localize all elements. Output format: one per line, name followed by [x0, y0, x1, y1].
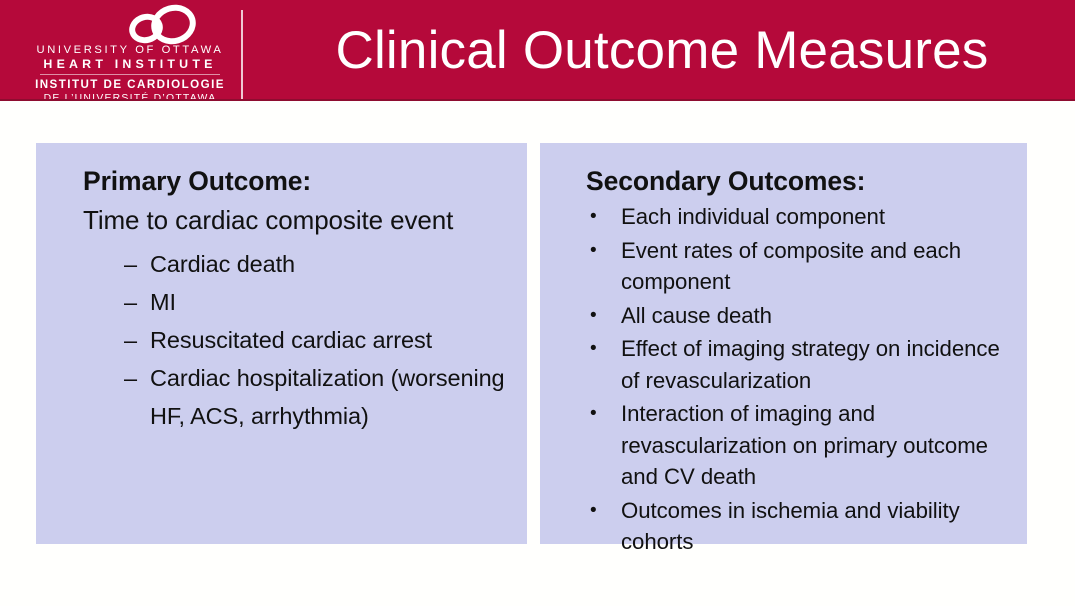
- list-item-label: All cause death: [621, 303, 772, 328]
- list-item-label: Event rates of composite and each compon…: [621, 238, 961, 295]
- list-item: • Interaction of imaging and revasculari…: [586, 398, 1013, 493]
- dash-bullet-icon: –: [124, 283, 137, 321]
- logo-line-heart-institute: HEART INSTITUTE: [20, 57, 240, 71]
- list-item-label: Interaction of imaging and revasculariza…: [621, 401, 988, 489]
- round-bullet-icon: •: [590, 235, 597, 267]
- dash-bullet-icon: –: [124, 321, 137, 359]
- logo-divider-rule: [40, 74, 220, 75]
- institution-logo: UNIVERSITY OF OTTAWA HEART INSTITUTE INS…: [20, 0, 240, 101]
- secondary-outcomes-list: • Each individual component • Event rate…: [586, 201, 1013, 558]
- list-item: • Event rates of composite and each comp…: [586, 235, 1013, 298]
- header-vertical-divider: [241, 10, 243, 100]
- list-item: – Cardiac death: [124, 245, 509, 283]
- primary-outcome-heading: Primary Outcome:: [83, 165, 509, 197]
- primary-outcome-panel: Primary Outcome: Time to cardiac composi…: [36, 143, 527, 544]
- slide: UNIVERSITY OF OTTAWA HEART INSTITUTE INS…: [0, 0, 1075, 606]
- list-item: • Effect of imaging strategy on incidenc…: [586, 333, 1013, 396]
- list-item-label: Cardiac death: [150, 251, 295, 277]
- list-item: – Resuscitated cardiac arrest: [124, 321, 509, 359]
- dash-bullet-icon: –: [124, 359, 137, 397]
- logo-line-institut: INSTITUT DE CARDIOLOGIE: [20, 78, 240, 92]
- dash-bullet-icon: –: [124, 245, 137, 283]
- list-item-label: Each individual component: [621, 204, 885, 229]
- header-accent-line: [0, 99, 1075, 101]
- page-title: Clinical Outcome Measures: [262, 0, 1062, 101]
- list-item-label: Resuscitated cardiac arrest: [150, 327, 432, 353]
- primary-outcome-lead: Time to cardiac composite event: [83, 201, 483, 239]
- list-item: • Each individual component: [586, 201, 1013, 233]
- secondary-outcomes-heading: Secondary Outcomes:: [586, 165, 1013, 197]
- list-item: – Cardiac hospitalization (worsening HF,…: [124, 359, 509, 435]
- secondary-outcomes-panel: Secondary Outcomes: • Each individual co…: [540, 143, 1027, 544]
- list-item-label: MI: [150, 289, 176, 315]
- round-bullet-icon: •: [590, 333, 597, 365]
- logo-line-university: UNIVERSITY OF OTTAWA: [20, 44, 240, 57]
- round-bullet-icon: •: [590, 300, 597, 332]
- round-bullet-icon: •: [590, 201, 597, 233]
- primary-outcome-list: – Cardiac death – MI – Resuscitated card…: [83, 245, 509, 435]
- list-item-label: Cardiac hospitalization (worsening HF, A…: [150, 365, 505, 429]
- ring-right-icon: [146, 0, 200, 49]
- list-item-label: Effect of imaging strategy on incidence …: [621, 336, 1000, 393]
- list-item-label: Outcomes in ischemia and viability cohor…: [621, 498, 960, 555]
- list-item: – MI: [124, 283, 509, 321]
- list-item: • Outcomes in ischemia and viability coh…: [586, 495, 1013, 558]
- round-bullet-icon: •: [590, 398, 597, 430]
- round-bullet-icon: •: [590, 495, 597, 527]
- list-item: • All cause death: [586, 300, 1013, 332]
- interlocking-rings-icon: [127, 4, 199, 44]
- slide-header-bar: UNIVERSITY OF OTTAWA HEART INSTITUTE INS…: [0, 0, 1075, 101]
- logo-wordmark: UNIVERSITY OF OTTAWA HEART INSTITUTE INS…: [20, 44, 240, 101]
